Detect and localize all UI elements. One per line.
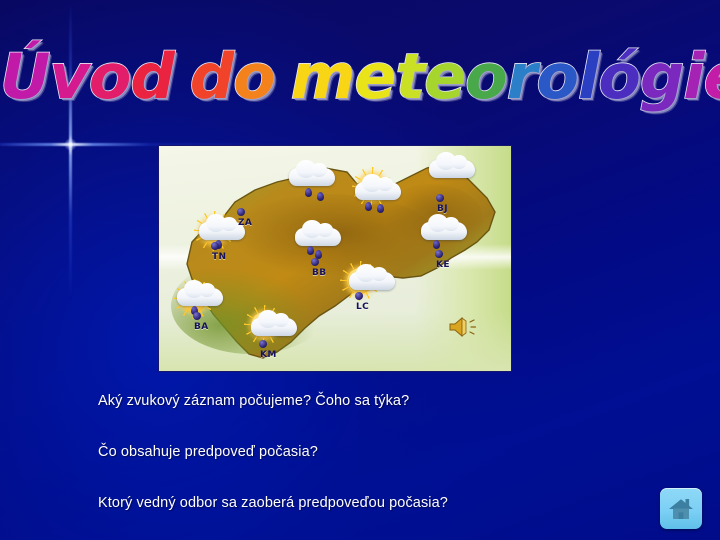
home-button[interactable] <box>660 488 702 529</box>
city-dot-bj <box>436 194 444 202</box>
title-letter: ó <box>598 46 640 108</box>
title-letter: o <box>465 46 507 108</box>
cloud-icon <box>355 182 401 200</box>
city-label-bj: BJ <box>437 204 448 214</box>
city-label-ba: BA <box>194 322 209 332</box>
title-letter: l <box>578 46 598 108</box>
slide-canvas: Úvoddometeorológie <box>0 0 720 540</box>
lens-flare-core-icon <box>64 138 77 151</box>
title-letter: Ú <box>0 46 49 108</box>
city-dot-bb <box>311 258 319 266</box>
title-letter: i <box>683 46 703 108</box>
raindrop-icon <box>317 192 324 201</box>
question-line-2: Čo obsahuje predpoveď počasia? <box>98 444 318 460</box>
title-letter: g <box>640 46 683 108</box>
raindrop-icon <box>365 202 372 211</box>
city-label-bb: BB <box>312 268 327 278</box>
cloud-icon <box>429 160 475 178</box>
city-label-tn: TN <box>212 252 226 262</box>
cloud-icon <box>295 228 341 246</box>
speaker-icon[interactable] <box>447 314 481 340</box>
title-letter: e <box>354 46 395 108</box>
city-dot-ke <box>435 250 443 258</box>
city-dot-za <box>237 208 245 216</box>
raindrop-icon <box>377 204 384 213</box>
cloud-icon <box>177 288 223 306</box>
city-label-za: ZA <box>238 218 252 228</box>
raindrop-icon <box>307 246 314 255</box>
city-label-ke: KE <box>436 260 450 270</box>
question-line-1: Aký zvukový záznam počujeme? Čoho sa týk… <box>98 393 409 409</box>
city-dot-tn <box>211 242 219 250</box>
title-letter: e <box>424 46 465 108</box>
title-letter: o <box>536 46 578 108</box>
title-letter: o <box>89 46 131 108</box>
cloud-icon <box>421 222 467 240</box>
city-label-km: KM <box>260 350 277 360</box>
raindrop-icon <box>305 188 312 197</box>
city-dot-lc <box>355 292 363 300</box>
title-letter: d <box>190 46 233 108</box>
home-icon <box>667 496 695 522</box>
weather-map-picture: ZABJTNBBKELCBAKM <box>158 145 512 372</box>
cloud-icon <box>251 318 297 336</box>
city-dot-km <box>259 340 267 348</box>
title-letter: d <box>130 46 173 108</box>
title-letter: t <box>395 46 424 108</box>
cloud-icon <box>349 272 395 290</box>
page-title-text: Úvoddometeorológie <box>0 85 720 102</box>
raindrop-icon <box>433 240 440 249</box>
title-letter: r <box>507 46 537 108</box>
question-line-3: Ktorý vedný odbor sa zaoberá predpoveďou… <box>98 495 448 511</box>
title-letter: e <box>703 46 720 108</box>
title-letter: o <box>233 46 275 108</box>
title-letter: m <box>291 46 355 108</box>
cloud-icon <box>289 168 335 186</box>
city-dot-ba <box>193 312 201 320</box>
title-letter: v <box>49 46 88 108</box>
city-label-lc: LC <box>356 302 369 312</box>
page-title: Úvoddometeorológie <box>0 46 720 108</box>
